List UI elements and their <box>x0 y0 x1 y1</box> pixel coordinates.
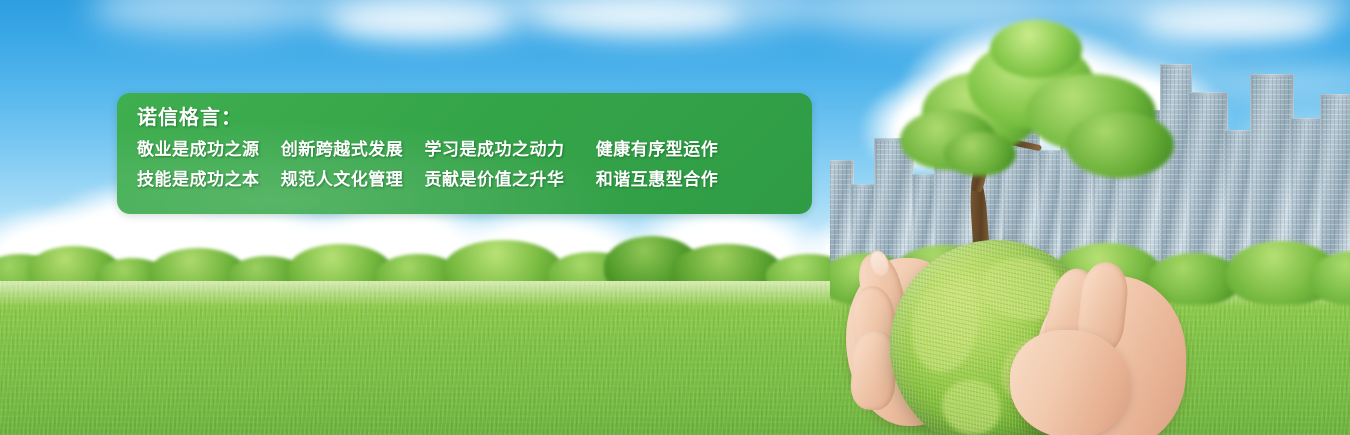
motto-segment: 贡献是价值之升华 <box>424 171 564 188</box>
motto-segment: 和谐互惠型合作 <box>596 171 719 188</box>
motto-segment: 学习是成功之动力 <box>424 141 564 158</box>
eco-banner: 诺信格言： 敬业是成功之源 创新跨越式发展 学习是成功之动力 健康有序型运作 技… <box>0 0 1350 435</box>
motto-title: 诺信格言： <box>137 108 812 128</box>
motto-line-2: 技能是成功之本 规范人文化管理 贡献是价值之升华 和谐互惠型合作 <box>137 171 812 188</box>
motto-panel: 诺信格言： 敬业是成功之源 创新跨越式发展 学习是成功之动力 健康有序型运作 技… <box>117 93 812 214</box>
motto-segment: 规范人文化管理 <box>281 171 404 188</box>
motto-segment: 健康有序型运作 <box>596 141 719 158</box>
motto-line-1: 敬业是成功之源 创新跨越式发展 学习是成功之动力 健康有序型运作 <box>137 141 812 158</box>
motto-segment: 敬业是成功之源 <box>137 141 260 158</box>
motto-segment: 技能是成功之本 <box>137 171 260 188</box>
eco-scene <box>830 0 1350 435</box>
motto-segment: 创新跨越式发展 <box>281 141 404 158</box>
